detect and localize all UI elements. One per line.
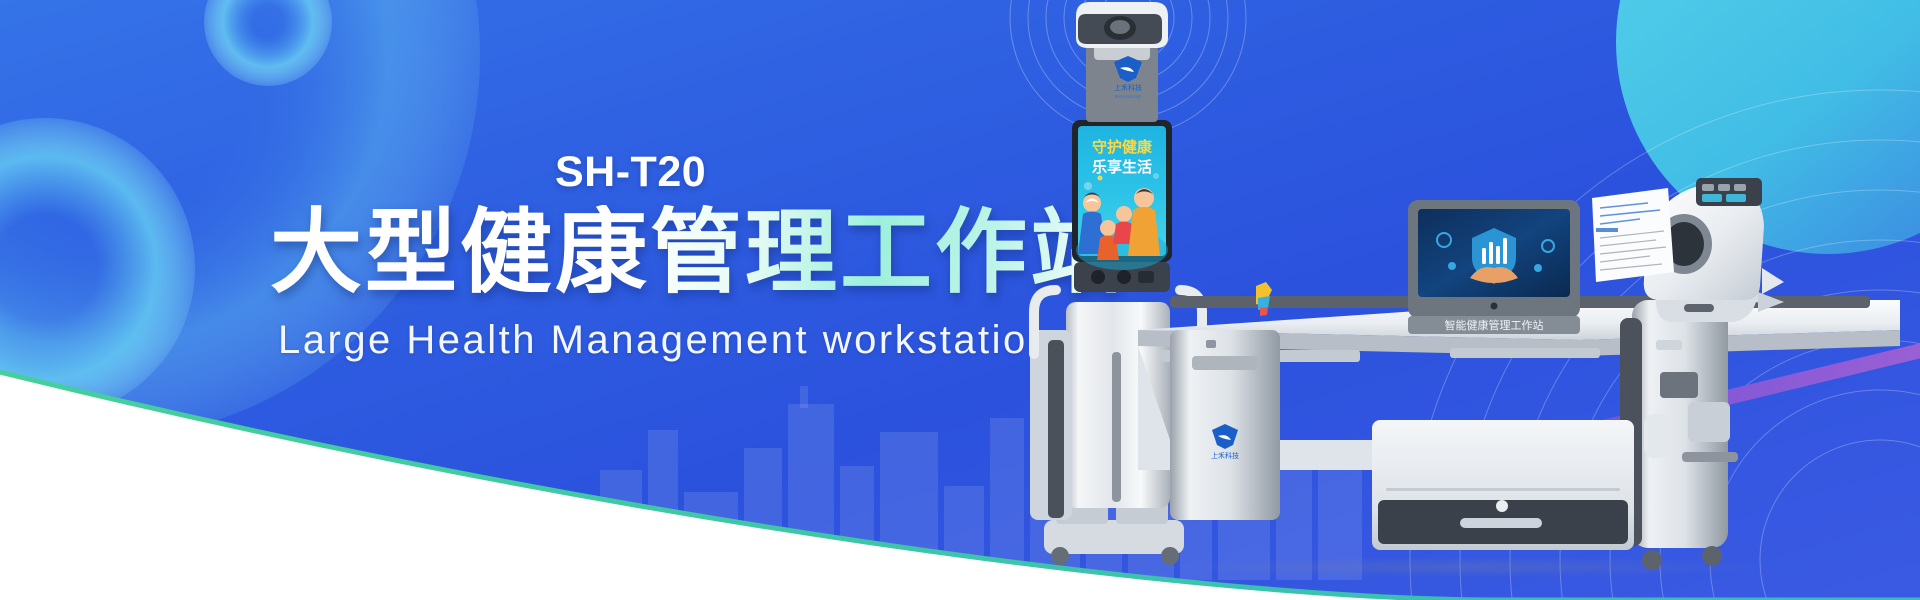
desk-caster-left [1642, 550, 1662, 570]
printer-indicator [1496, 500, 1508, 512]
report-printer [1372, 420, 1634, 550]
page-title: 大型健康管理工作站 [270, 205, 1125, 302]
brand-logo-text-cn: 上禾科技 [1114, 83, 1142, 92]
cup-holder [1644, 414, 1670, 458]
workstation-desk: 上禾科技 [1138, 296, 1900, 570]
sensor-left [1091, 270, 1105, 284]
cabinet-slot [1192, 356, 1258, 370]
brand-logo-text-en: SHANGHE [1115, 94, 1141, 99]
page-subtitle: Large Health Management workstation [278, 318, 1053, 363]
report-paper [1592, 188, 1674, 282]
bp-key-2[interactable] [1718, 184, 1730, 191]
product-banner: SH-T20 大型健康管理工作站 Large Health Management… [0, 0, 1920, 600]
screen-bubble-1 [1084, 182, 1092, 190]
column-accessory-holder [1688, 402, 1730, 442]
column-panel [1660, 372, 1698, 398]
printer-tray-handle [1460, 518, 1542, 528]
bp-fin-top [1762, 268, 1784, 294]
bp-key-stop[interactable] [1726, 194, 1746, 202]
column-slot [1656, 340, 1682, 350]
terminal-camera [1491, 303, 1498, 310]
product-image: 守护健康 乐享生活 [1020, 0, 1920, 600]
kiosk-body-groove [1112, 352, 1121, 502]
kiosk-display[interactable]: 守护健康 乐享生活 [1072, 120, 1172, 270]
kiosk-headline-line1: 守护健康 [1092, 138, 1153, 156]
report-card [1592, 188, 1674, 282]
bp-key-start[interactable] [1702, 194, 1722, 202]
desk-caster-right [1702, 546, 1722, 566]
terminal-label-text: 智能健康管理工作站 [1445, 318, 1544, 332]
kiosk-caster-left [1051, 547, 1069, 565]
kiosk-side-rail [1048, 340, 1064, 518]
cabinet-brand-text: 上禾科技 [1211, 451, 1239, 460]
sensor-panel [1138, 271, 1154, 283]
bp-key-3[interactable] [1734, 184, 1746, 191]
bp-foot-slot [1684, 304, 1714, 312]
cabinet-lock [1206, 340, 1216, 348]
column-shelf [1682, 452, 1738, 462]
desk-terminal[interactable]: 智能健康管理工作站 [1408, 200, 1580, 334]
model-code: SH-T20 [555, 148, 706, 197]
screen-bubble-3 [1098, 176, 1103, 181]
sensor-right [1117, 270, 1131, 284]
bp-key-1[interactable] [1702, 184, 1714, 191]
printer-seam [1386, 488, 1620, 491]
screen-bubble-2 [1153, 173, 1159, 179]
keyboard-tray-right [1450, 348, 1600, 358]
ultrasonic-sensor-inner [1110, 20, 1130, 34]
kiosk-caster-right [1161, 547, 1179, 565]
kiosk-headline-line2: 乐享生活 [1092, 158, 1152, 176]
analyzer-cabinet: 上禾科技 [1170, 330, 1280, 520]
report-highlight [1596, 228, 1618, 232]
headline-copy-block: SH-T20 大型健康管理工作站 Large Health Management… [0, 0, 1040, 600]
workstation-illustration: 守护健康 乐享生活 [1020, 0, 1920, 600]
